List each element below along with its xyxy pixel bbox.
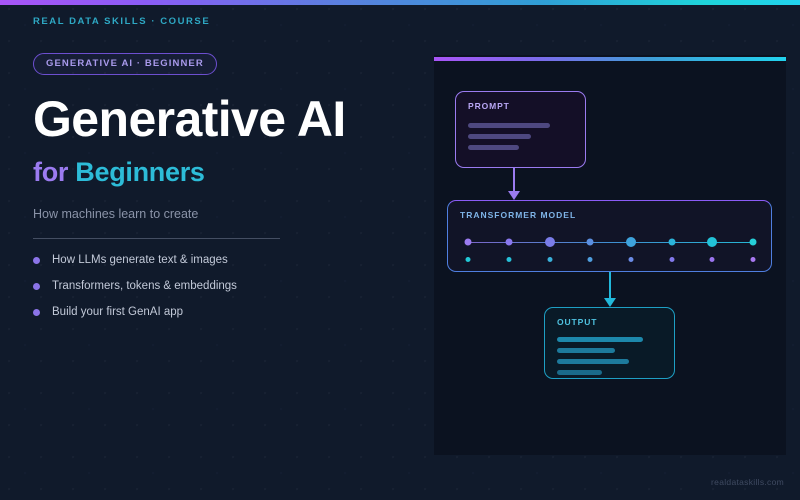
placeholder-line: [468, 145, 519, 150]
transformer-subnode: [751, 257, 756, 262]
panel-gradient-bar: [434, 57, 786, 61]
diagram-panel: PROMPT TRANSFORMER MODEL OUTPUT: [434, 55, 786, 455]
hero-tagline: How machines learn to create: [33, 207, 413, 221]
transformer-node: [626, 237, 636, 247]
arrow-head: [508, 191, 520, 200]
diagram-prompt-box: PROMPT: [455, 91, 586, 168]
diagram-output-box: OUTPUT: [544, 307, 675, 379]
output-box-title: OUTPUT: [557, 317, 597, 327]
prompt-box-title: PROMPT: [468, 101, 510, 111]
transformer-subnode-row: [462, 257, 759, 265]
arrow-transformer-to-output-icon: [600, 272, 620, 307]
hero-subheadline: for Beginners: [33, 157, 413, 188]
top-gradient-bar: [0, 0, 800, 5]
hero-text-column: REAL DATA SKILLS · COURSE GENERATIVE AI …: [33, 16, 413, 332]
transformer-box-title: TRANSFORMER MODEL: [460, 210, 576, 220]
subheadline-accent: Beginners: [75, 157, 204, 187]
transformer-subnode: [548, 257, 553, 262]
section-divider: [33, 238, 280, 239]
transformer-node: [750, 239, 757, 246]
placeholder-line: [557, 370, 602, 375]
list-item-label: Build your first GenAI app: [52, 306, 183, 318]
transformer-node: [587, 239, 594, 246]
topic-list: How LLMs generate text & images Transfor…: [33, 254, 413, 318]
placeholder-line: [557, 359, 629, 364]
transformer-subnode: [710, 257, 715, 262]
brand-eyebrow: REAL DATA SKILLS · COURSE: [33, 16, 413, 27]
bullet-dot-icon: [33, 257, 40, 264]
list-item-label: How LLMs generate text & images: [52, 254, 228, 266]
arrow-stem: [609, 272, 611, 298]
transformer-node: [707, 237, 717, 247]
transformer-node: [669, 239, 676, 246]
subheadline-prefix: for: [33, 157, 75, 187]
list-item: How LLMs generate text & images: [33, 254, 413, 266]
list-item-label: Transformers, tokens & embeddings: [52, 280, 237, 292]
slide-canvas: REAL DATA SKILLS · COURSE GENERATIVE AI …: [0, 0, 800, 500]
footer-url: realdataskills.com: [711, 477, 784, 487]
transformer-subnode: [507, 257, 512, 262]
prompt-placeholder-lines: [468, 123, 550, 156]
transformer-subnode: [588, 257, 593, 262]
transformer-subnode: [466, 257, 471, 262]
transformer-node-row: [462, 235, 759, 249]
list-item: Build your first GenAI app: [33, 306, 413, 318]
arrow-head: [604, 298, 616, 307]
arrow-prompt-to-transformer-icon: [504, 168, 524, 200]
placeholder-line: [557, 348, 615, 353]
placeholder-line: [468, 134, 531, 139]
transformer-subnode: [670, 257, 675, 262]
diagram-transformer-box: TRANSFORMER MODEL: [447, 200, 772, 272]
bullet-dot-icon: [33, 309, 40, 316]
course-level-badge: GENERATIVE AI · BEGINNER: [33, 53, 217, 75]
output-placeholder-lines: [557, 337, 643, 381]
bullet-dot-icon: [33, 283, 40, 290]
list-item: Transformers, tokens & embeddings: [33, 280, 413, 292]
transformer-node: [545, 237, 555, 247]
transformer-node: [465, 239, 472, 246]
arrow-stem: [513, 168, 515, 192]
transformer-node: [506, 239, 513, 246]
transformer-subnode: [629, 257, 634, 262]
placeholder-line: [557, 337, 643, 342]
placeholder-line: [468, 123, 550, 128]
page-title: Generative AI: [33, 94, 413, 145]
